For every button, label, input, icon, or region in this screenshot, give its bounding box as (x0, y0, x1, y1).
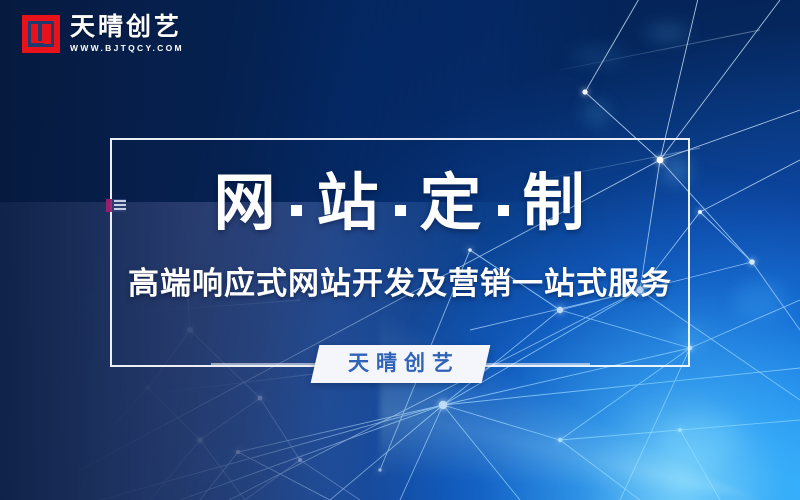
ribbon-rule-left (211, 363, 321, 365)
ribbon-rule-right (480, 363, 590, 365)
headline-char-2: 站 (316, 168, 380, 240)
headline-char-3: 定 (420, 168, 484, 240)
ribbon-label: 天晴创艺 (341, 351, 460, 377)
page-title: 网 站 定 制 (0, 168, 800, 240)
banner-canvas: 天晴创艺 WWW.BJTQCY.COM 网 站 定 制 高端响应式网站开发及营销… (0, 0, 800, 500)
headline-separator-icon (498, 205, 509, 216)
brand-logo-text: 天晴创艺 WWW.BJTQCY.COM (70, 14, 184, 54)
headline-char-1: 网 (213, 168, 277, 240)
headline-separator-icon (395, 205, 406, 216)
brand-website-url: WWW.BJTQCY.COM (70, 42, 184, 54)
headline-separator-icon (291, 205, 302, 216)
tqcy-square-logo-icon (22, 15, 60, 53)
brand-logo[interactable]: 天晴创艺 WWW.BJTQCY.COM (22, 14, 184, 54)
brand-ribbon: 天晴创艺 (310, 345, 490, 383)
brand-name-cn: 天晴创艺 (70, 14, 184, 40)
page-subtitle: 高端响应式网站开发及营销一站式服务 (0, 264, 800, 304)
headline-char-4: 制 (523, 168, 587, 240)
ribbon-band: 天晴创艺 (0, 344, 800, 384)
